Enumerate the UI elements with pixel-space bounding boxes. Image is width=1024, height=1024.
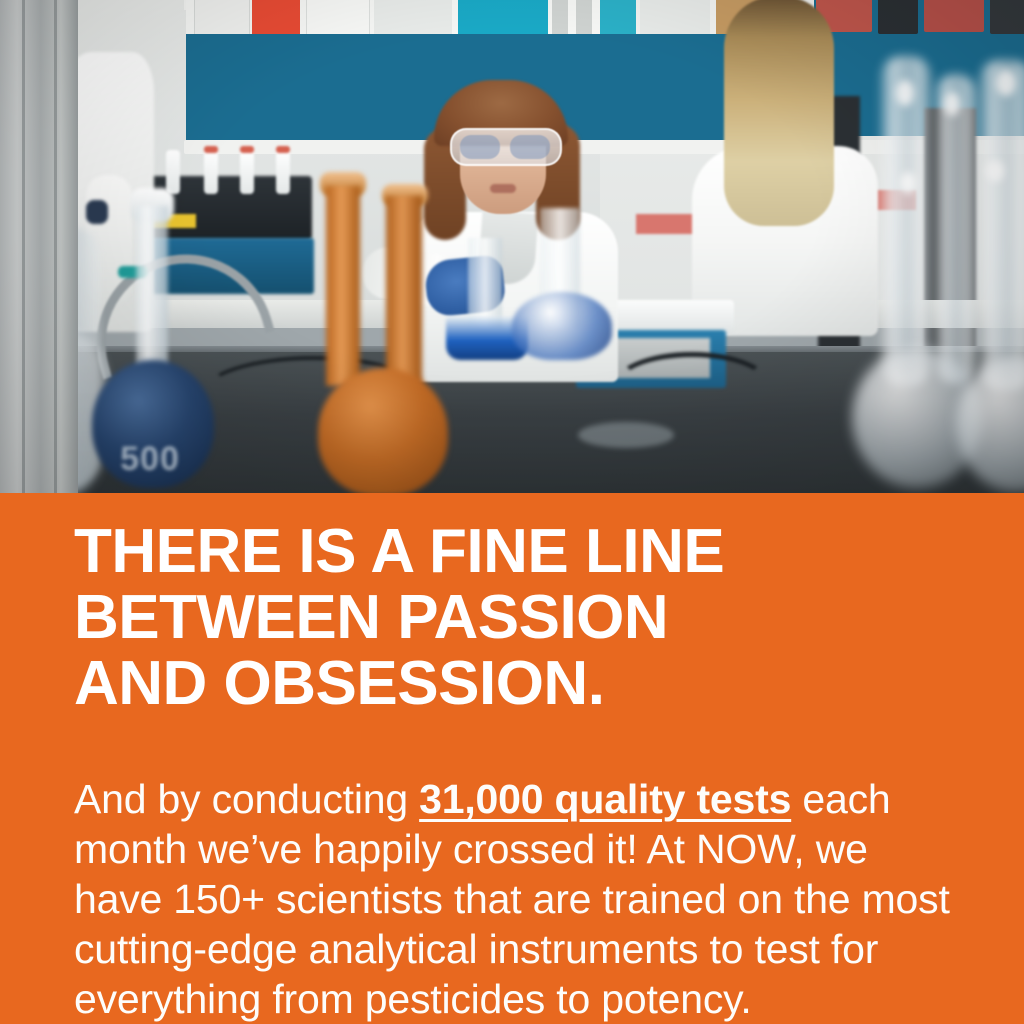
shelf-box bbox=[878, 0, 918, 34]
test-tube-cap bbox=[276, 146, 290, 153]
lab-photo: 500 bbox=[0, 0, 1024, 493]
goggle-lens-left bbox=[460, 135, 500, 159]
blurred-glassware bbox=[934, 74, 978, 384]
glass-highlight bbox=[896, 80, 914, 106]
glass-highlight bbox=[900, 172, 916, 194]
glass-highlight bbox=[996, 70, 1016, 96]
petri-dish bbox=[578, 422, 674, 448]
volumetric-flask-neck bbox=[136, 206, 168, 370]
test-tube bbox=[240, 150, 254, 194]
body-copy-before: And by conducting bbox=[74, 776, 419, 822]
amber-flask-neck bbox=[386, 196, 422, 386]
test-tube-cap bbox=[240, 146, 254, 153]
scientist-mouth bbox=[490, 184, 516, 193]
amber-flask-neck bbox=[326, 186, 360, 386]
amber-volumetric-flask bbox=[318, 368, 448, 493]
test-tube-cap bbox=[204, 146, 218, 153]
glass-highlight bbox=[944, 92, 960, 116]
body-copy: And by conducting 31,000 quality tests e… bbox=[74, 774, 954, 1024]
background-scientist-glove bbox=[86, 200, 108, 224]
lab-pillar bbox=[0, 0, 78, 493]
test-tube bbox=[166, 150, 180, 194]
pillar-seam bbox=[22, 0, 25, 493]
orange-content-panel: THERE IS A FINE LINE BETWEEN PASSION AND… bbox=[0, 493, 1024, 1024]
headline-line-2: BETWEEN PASSION bbox=[74, 585, 974, 651]
page-title: THERE IS A FINE LINE BETWEEN PASSION AND… bbox=[74, 519, 974, 717]
shelf-box bbox=[990, 0, 1024, 34]
goggle-lens-right bbox=[510, 135, 550, 159]
safety-goggles bbox=[450, 128, 562, 166]
test-tube bbox=[276, 150, 290, 194]
scientist-hair bbox=[724, 0, 834, 226]
headline-line-3: AND OBSESSION. bbox=[74, 651, 974, 717]
volumetric-flask-bulb bbox=[512, 292, 612, 360]
test-tube bbox=[204, 150, 218, 194]
glass-highlight bbox=[986, 160, 1004, 182]
shelf-box bbox=[924, 0, 984, 32]
erlenmeyer-flask-neck bbox=[468, 238, 502, 328]
flask-volume-label: 500 bbox=[108, 440, 192, 476]
marketing-poster: 500 THERE IS A FINE LINE BETWEEN PASSION… bbox=[0, 0, 1024, 1024]
background-scientist-blonde bbox=[690, 0, 880, 326]
body-copy-emphasis: 31,000 quality tests bbox=[419, 776, 791, 822]
headline-line-1: THERE IS A FINE LINE bbox=[74, 519, 974, 585]
lab-scene: 500 bbox=[0, 0, 1024, 493]
blurred-glassware bbox=[978, 60, 1024, 390]
pillar-seam bbox=[54, 0, 57, 493]
